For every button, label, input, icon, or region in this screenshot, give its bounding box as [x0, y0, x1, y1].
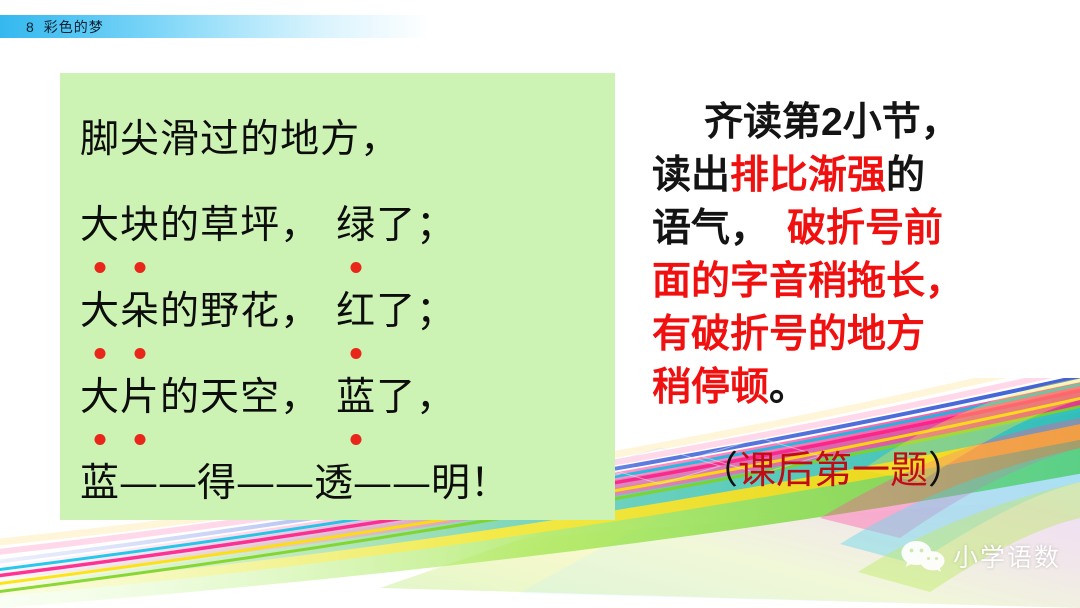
- poem-char: 草: [200, 183, 240, 269]
- poem-char: 滑: [160, 97, 200, 183]
- poem-char: ，: [360, 97, 400, 183]
- poem-char-emphasized: 大: [80, 269, 120, 355]
- poem-line: 大片的天空，蓝了，: [60, 355, 615, 441]
- poem-char: ；: [416, 183, 456, 269]
- poem-char: 的: [160, 269, 200, 355]
- poem-char: 尖: [120, 97, 160, 183]
- instruction-line-1: 齐读第2小节，: [652, 96, 1064, 149]
- instruction-line-3: 语气，破折号前: [652, 202, 1064, 255]
- instruction-line-6: 稍停顿。: [652, 361, 1064, 414]
- poem-char-emphasized: 大: [80, 355, 120, 441]
- poem-char: 花: [240, 269, 280, 355]
- watermark-label: 小学语数: [953, 538, 1061, 574]
- poem-char: —: [158, 441, 197, 527]
- poem-char-emphasized: 片: [120, 355, 160, 441]
- poem-line: 脚尖滑过的地方，: [60, 97, 615, 183]
- watermark: 小学语数: [900, 538, 1061, 574]
- poem-char-emphasized: 块: [120, 183, 160, 269]
- poem-char: 透: [314, 441, 353, 527]
- page-title: 8彩色的梦: [26, 16, 104, 38]
- instruction-text: 。: [769, 366, 808, 409]
- poem-char: 了: [376, 183, 416, 269]
- slide-canvas: 8彩色的梦 脚尖滑过的地方， 大块的草坪，绿了； 大朵的野花，红了； 大片的天空…: [0, 0, 1080, 608]
- poem-char: ，: [280, 269, 320, 355]
- poem-char: ，: [280, 183, 320, 269]
- lesson-title: 彩色的梦: [44, 19, 104, 35]
- after-class-label: 课后第一题: [738, 448, 928, 492]
- poem-char: 明: [431, 441, 470, 527]
- poem-char: ，: [416, 355, 456, 441]
- poem-char-emphasized: 朵: [120, 269, 160, 355]
- poem-char: 方: [320, 97, 360, 183]
- wechat-icon: [900, 539, 946, 573]
- poem-char: —: [353, 441, 392, 527]
- poem-line: 蓝——得——透——明！: [60, 441, 615, 527]
- poem-char: —: [275, 441, 314, 527]
- poem-char: 野: [200, 269, 240, 355]
- poem-char: 得: [197, 441, 236, 527]
- instruction-text: 齐读第2小节，: [704, 101, 960, 144]
- poem-char: 脚: [80, 97, 120, 183]
- poem-char-emphasized: 红: [336, 269, 376, 355]
- poem-char: ，: [280, 355, 320, 441]
- lesson-number: 8: [26, 19, 35, 35]
- instruction-line-5: 有破折号的地方: [652, 308, 1064, 361]
- poem-char: 的: [160, 183, 200, 269]
- poem-line: 大块的草坪，绿了；: [60, 183, 615, 269]
- poem-char: ；: [416, 269, 456, 355]
- poem-panel: 脚尖滑过的地方， 大块的草坪，绿了； 大朵的野花，红了； 大片的天空，蓝了， 蓝…: [60, 73, 615, 520]
- instruction-block: 齐读第2小节， 读出排比渐强的 语气，破折号前 面的字音稍拖长， 有破折号的地方…: [652, 96, 1064, 414]
- poem-char: 地: [280, 97, 320, 183]
- poem-char-emphasized: 大: [80, 183, 120, 269]
- poem-char: 的: [240, 97, 280, 183]
- instruction-line-2: 读出排比渐强的: [652, 149, 1064, 202]
- instruction-line-4: 面的字音稍拖长，: [652, 255, 1064, 308]
- instruction-emphasis: 排比渐强: [730, 154, 886, 197]
- poem-char: ！: [470, 441, 509, 527]
- poem-char: 蓝: [80, 441, 119, 527]
- poem-char: 空: [240, 355, 280, 441]
- poem-char: 天: [200, 355, 240, 441]
- poem-char: 了: [376, 269, 416, 355]
- instruction-text: 读出: [652, 154, 730, 197]
- poem-char: 坪: [240, 183, 280, 269]
- poem-char: 的: [160, 355, 200, 441]
- instruction-emphasis: 稍停顿: [652, 366, 769, 409]
- poem-char-emphasized: 绿: [336, 183, 376, 269]
- paren-open: （: [700, 448, 738, 492]
- instruction-text: 语气，: [652, 207, 769, 250]
- poem-char: —: [392, 441, 431, 527]
- after-class-note: （课后第一题）: [700, 446, 966, 494]
- poem-line: 大朵的野花，红了；: [60, 269, 615, 355]
- poem-char-emphasized: 蓝: [336, 355, 376, 441]
- instruction-emphasis: 有破折号的地方: [652, 313, 925, 356]
- instruction-emphasis: 破折号前: [787, 207, 943, 250]
- paren-close: ）: [928, 448, 966, 492]
- poem-char: —: [119, 441, 158, 527]
- instruction-text: 的: [886, 154, 925, 197]
- instruction-emphasis: 面的字音稍拖长，: [652, 260, 964, 303]
- poem-char: —: [236, 441, 275, 527]
- poem-char: 了: [376, 355, 416, 441]
- poem-char: 过: [200, 97, 240, 183]
